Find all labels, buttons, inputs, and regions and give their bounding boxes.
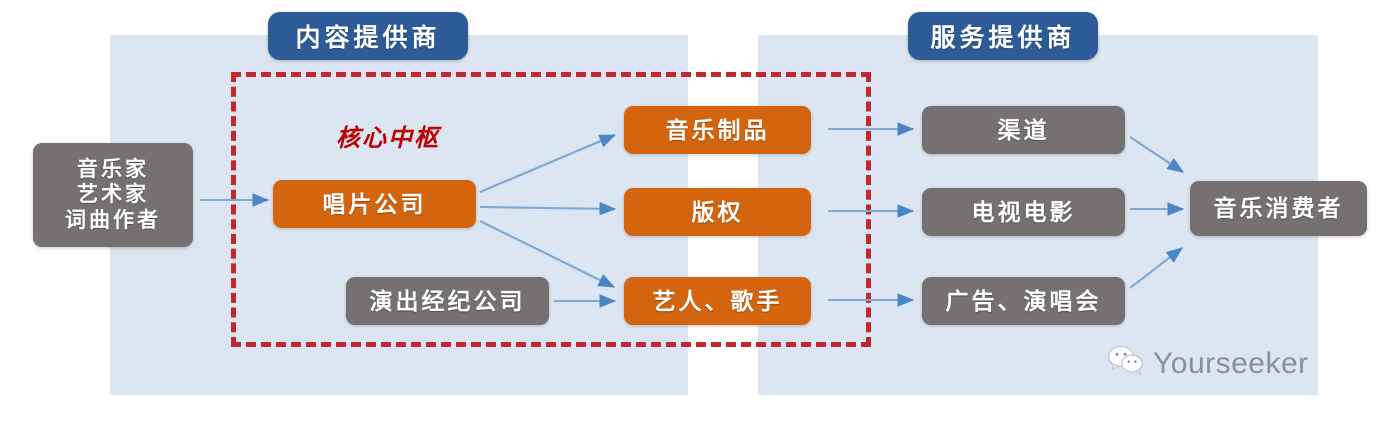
node-creators-line-2: 艺术家 [77,182,149,208]
node-tv-film[interactable]: 电视电影 [922,188,1125,236]
watermark: Yourseeker [1108,346,1309,381]
node-copyright[interactable]: 版权 [624,188,811,236]
node-creators[interactable]: 音乐家 艺术家 词曲作者 [33,143,193,247]
node-channel[interactable]: 渠道 [922,106,1125,154]
node-music-products[interactable]: 音乐制品 [624,106,811,154]
node-music-consumers[interactable]: 音乐消费者 [1190,181,1367,236]
core-hub-annotation: 核心中枢 [336,118,440,153]
node-advertising-concerts[interactable]: 广告、演唱会 [922,277,1125,325]
node-artists-singers[interactable]: 艺人、歌手 [624,277,811,325]
zone-header-service-provider: 服务提供商 [908,12,1098,60]
zone-header-content-provider: 内容提供商 [268,12,468,60]
watermark-text: Yourseeker [1153,347,1309,381]
node-creators-line-3: 词曲作者 [65,208,161,234]
node-performance-agency[interactable]: 演出经纪公司 [346,277,549,325]
diagram-canvas: 内容提供商 服务提供商 核心中枢 [0,0,1397,427]
node-creators-line-1: 音乐家 [77,157,149,183]
node-record-label[interactable]: 唱片公司 [273,180,476,228]
wechat-icon [1108,346,1144,381]
